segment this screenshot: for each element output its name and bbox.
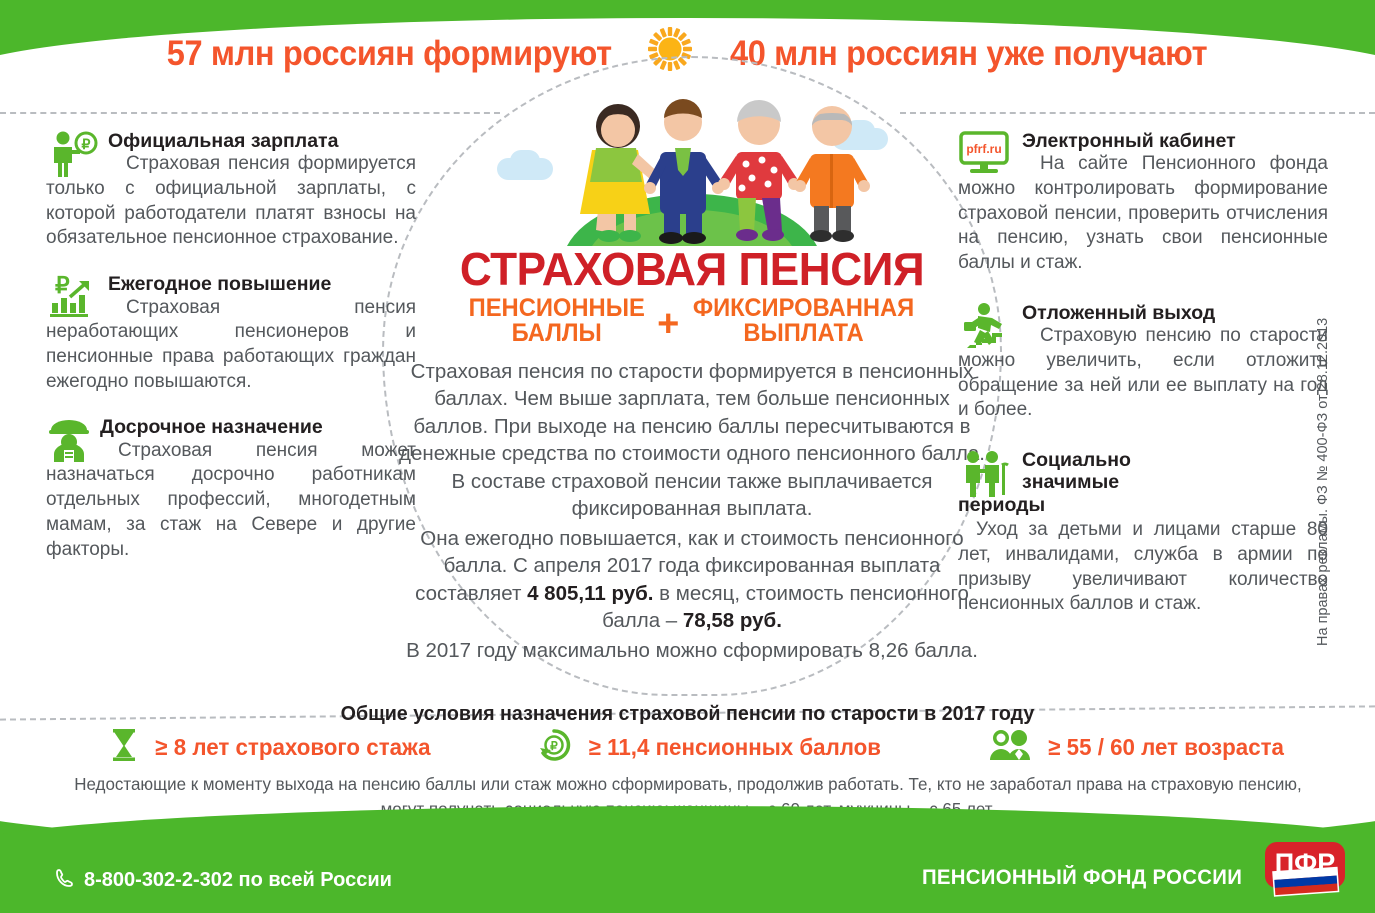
block-deferred-retirement: Отложенный выход Страховую пенсию по ста… xyxy=(958,302,1328,423)
condition-text: ≥ 11,4 пенсионных баллов xyxy=(589,734,881,761)
footer-phone[interactable]: 8-800-302-2-302 по всей России xyxy=(56,868,392,893)
point-price-value: 78,58 руб. xyxy=(683,609,782,632)
svg-text:₽: ₽ xyxy=(82,136,91,152)
condition-text: ≥ 8 лет страхового стажа xyxy=(155,734,430,761)
svg-text:₽: ₽ xyxy=(550,739,558,753)
block-early-assignment: Досрочное назначение Страховая пенсия мо… xyxy=(46,416,416,562)
block-text-value: Страховая пенсия может назначаться досро… xyxy=(46,440,416,560)
header-right-text: 40 млн россиян уже получают xyxy=(730,34,1207,74)
block-text: Уход за детьми и лицами старше 80 лет, и… xyxy=(958,518,1328,617)
block-text: Страховая пенсия может назначаться досро… xyxy=(46,439,416,562)
center-title-main: СТРАХОВАЯ ПЕНСИЯ xyxy=(410,246,974,292)
center-title-sub-left: ПЕНСИОННЫЕ БАЛЛЫ xyxy=(468,296,644,346)
person-with-ruble-icon: ₽ xyxy=(46,130,102,174)
block-annual-increase: ₽ Ежегодное повышение Страховая пенсия н… xyxy=(46,273,416,394)
plus-sign: + xyxy=(657,309,679,339)
center-paragraph-2: Она ежегодно повышается, как и стоимость… xyxy=(398,525,986,635)
worker-helmet-icon xyxy=(46,416,94,460)
growth-chart-ruble-icon: ₽ xyxy=(46,273,102,317)
sub-right-line2: ВЫПЛАТА xyxy=(693,321,914,346)
sub-right-line1: ФИКСИРОВАННАЯ xyxy=(693,296,914,321)
block-title: Досрочное назначение xyxy=(46,416,416,438)
block-socially-significant: Социально значимые периоды Уход за детьм… xyxy=(958,449,1328,617)
block-official-salary: ₽ Официальная зарплата Страховая пенсия … xyxy=(46,130,416,251)
family-holding-hands-illustration xyxy=(398,78,986,246)
sub-left-line1: ПЕНСИОННЫЕ xyxy=(468,296,644,321)
condition-item-points: ₽ ≥ 11,4 пенсионных баллов xyxy=(537,728,889,767)
block-text-value: Уход за детьми и лицами старше 80 лет, и… xyxy=(958,519,1328,614)
pfr-logo: ПФР xyxy=(1257,838,1353,908)
monitor-pfrf-ru-icon: pfrf.ru xyxy=(958,130,1016,174)
right-column: pfrf.ru Электронный кабинет На сайте Пен… xyxy=(958,130,1328,632)
fixed-payment-value: 4 805,11 руб. xyxy=(527,582,653,605)
legal-notice: На правах рекламы. ФЗ № 400-ФЗ от 28.12.… xyxy=(1315,326,1331,646)
phone-number: 8-800-302-2-302 по всей России xyxy=(84,869,392,892)
center-body-text: Страховая пенсия по старости формируется… xyxy=(398,358,986,664)
svg-text:pfrf.ru: pfrf.ru xyxy=(966,142,1001,156)
block-electronic-cabinet: pfrf.ru Электронный кабинет На сайте Пен… xyxy=(958,130,1328,276)
conditions-title: Общие условия назначения страховой пенси… xyxy=(28,702,1348,726)
center-paragraph-1: Страховая пенсия по старости формируется… xyxy=(398,358,986,523)
conditions-row: ≥ 8 лет страхового стажа ₽ ≥ 11,4 пенсио… xyxy=(110,728,1290,767)
center-title-subrow: ПЕНСИОННЫЕ БАЛЛЫ + ФИКСИРОВАННАЯ ВЫПЛАТА xyxy=(398,296,986,346)
caregiver-elderly-icon xyxy=(958,449,1016,493)
condition-text: ≥ 55 / 60 лет возраста xyxy=(1048,734,1284,761)
header-left-text: 57 млн россиян формируют xyxy=(167,34,612,74)
center-panel: СТРАХОВАЯ ПЕНСИЯ ПЕНСИОННЫЕ БАЛЛЫ + ФИКС… xyxy=(398,78,986,664)
center-p2-part-b: в месяц, стоимость пенсионного балла – xyxy=(602,582,969,632)
svg-text:₽: ₽ xyxy=(55,273,70,298)
two-people-icon xyxy=(988,729,1032,766)
condition-item-age: ≥ 55 / 60 лет возраста xyxy=(988,729,1290,766)
running-person-stairs-icon xyxy=(958,302,1016,346)
ruble-recycle-icon: ₽ xyxy=(537,728,571,767)
center-title-sub-right: ФИКСИРОВАННАЯ ВЫПЛАТА xyxy=(693,296,914,346)
center-paragraph-3: В 2017 году максимально можно сформирова… xyxy=(398,637,986,664)
sub-left-line2: БАЛЛЫ xyxy=(468,321,644,346)
hourglass-icon xyxy=(110,728,138,767)
condition-item-years: ≥ 8 лет страхового стажа xyxy=(110,728,438,767)
phone-icon xyxy=(56,868,75,893)
infographic-poster: 57 млн россиян формируют xyxy=(0,0,1375,913)
left-column: ₽ Официальная зарплата Страховая пенсия … xyxy=(46,130,416,577)
footer-organization: ПЕНСИОННЫЙ ФОНД РОССИИ xyxy=(922,866,1242,890)
